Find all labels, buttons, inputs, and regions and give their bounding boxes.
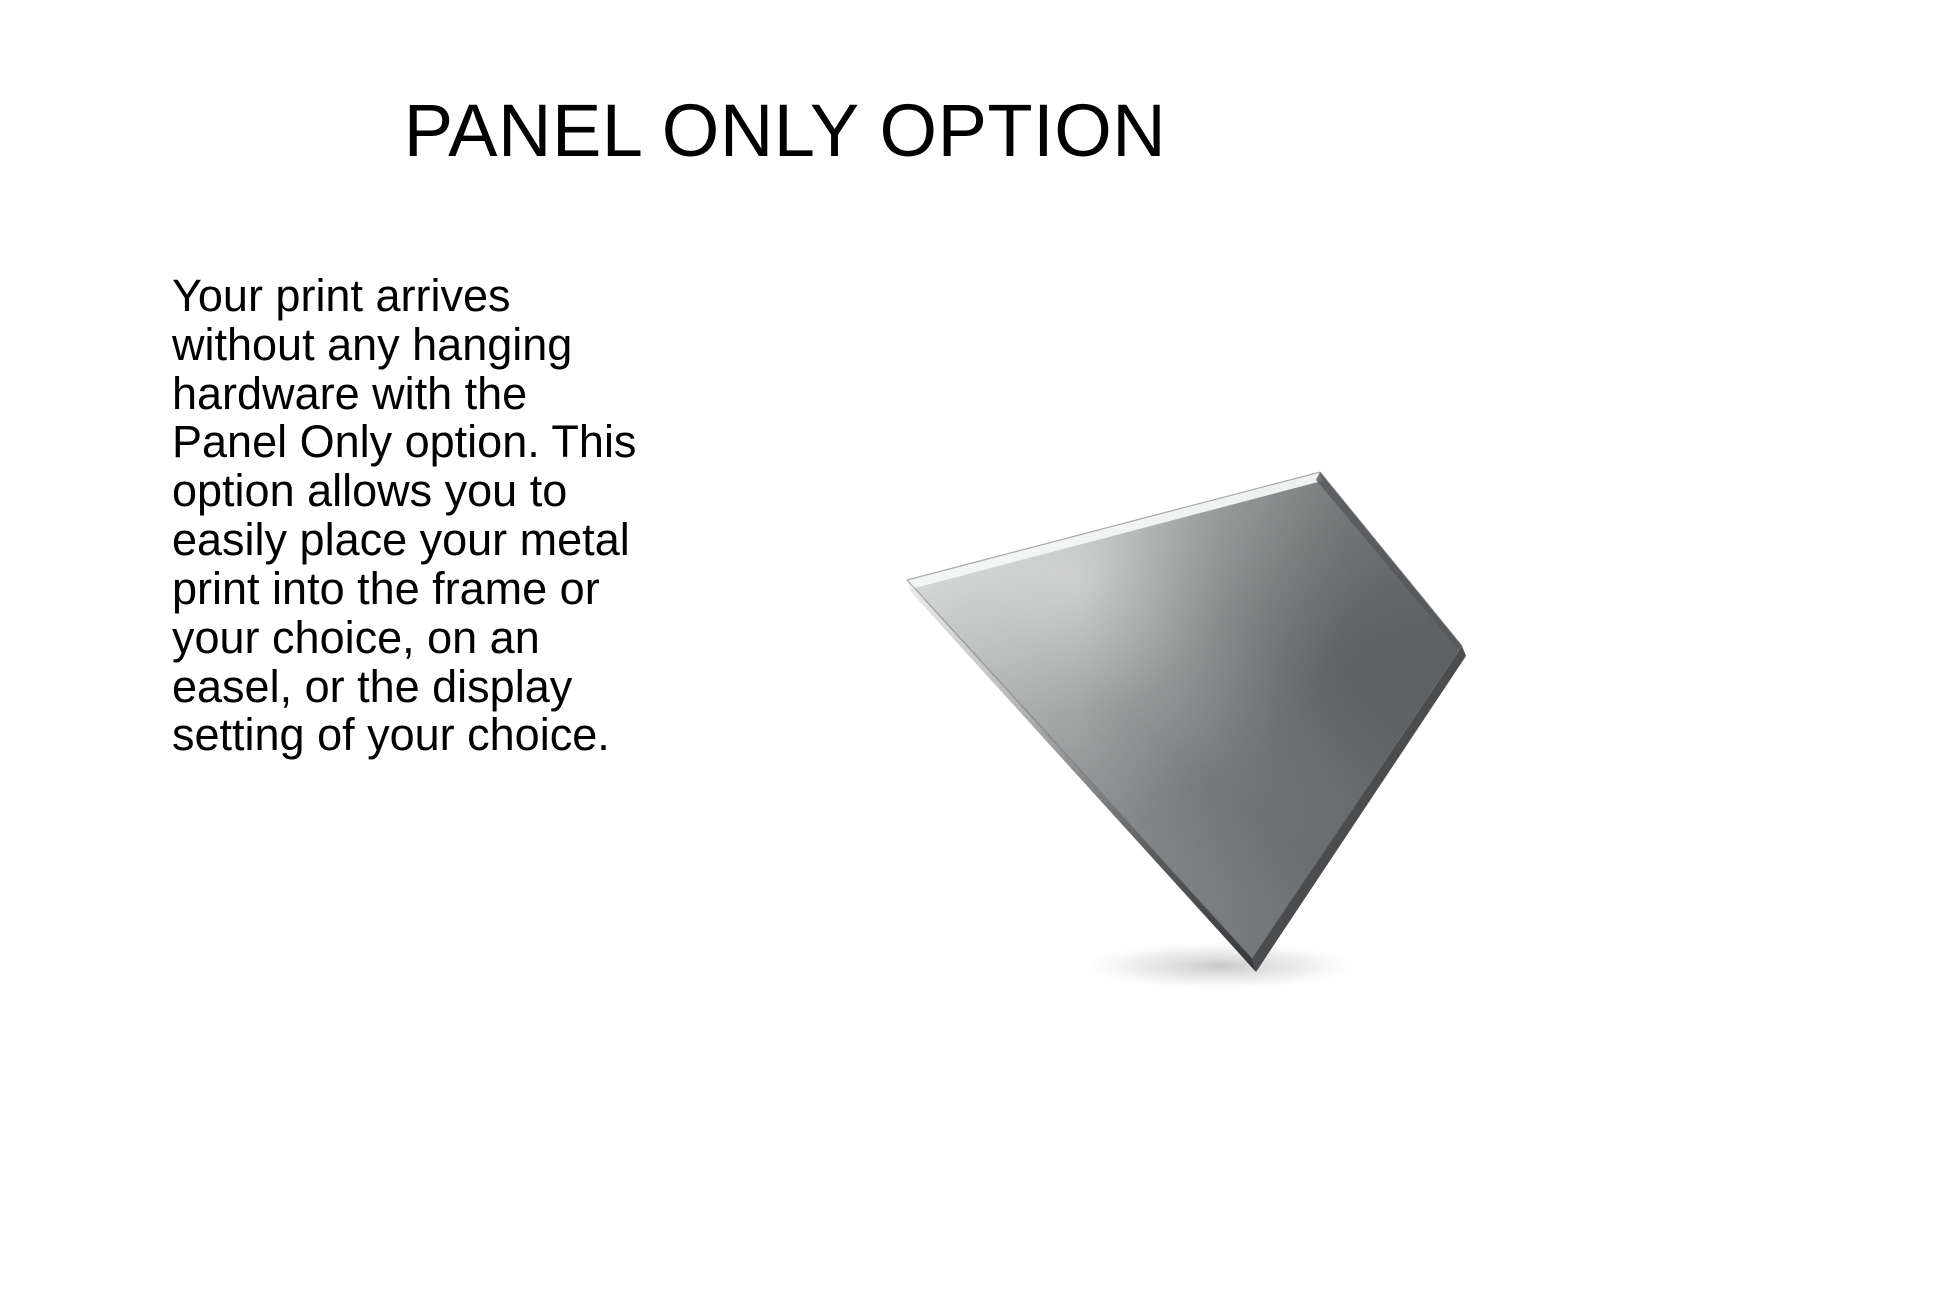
metal-panel-illustration: [700, 330, 1520, 1010]
page-title: PANEL ONLY OPTION: [0, 92, 1570, 170]
panel-shadow: [1070, 940, 1370, 992]
slide-canvas: PANEL ONLY OPTION Your print arrives wit…: [0, 0, 1946, 1297]
body-paragraph: Your print arrives without any hanging h…: [172, 272, 642, 760]
body-text-block: Your print arrives without any hanging h…: [172, 272, 642, 760]
metal-panel-figure: [700, 330, 1520, 1010]
panel-face: [880, 460, 1490, 980]
